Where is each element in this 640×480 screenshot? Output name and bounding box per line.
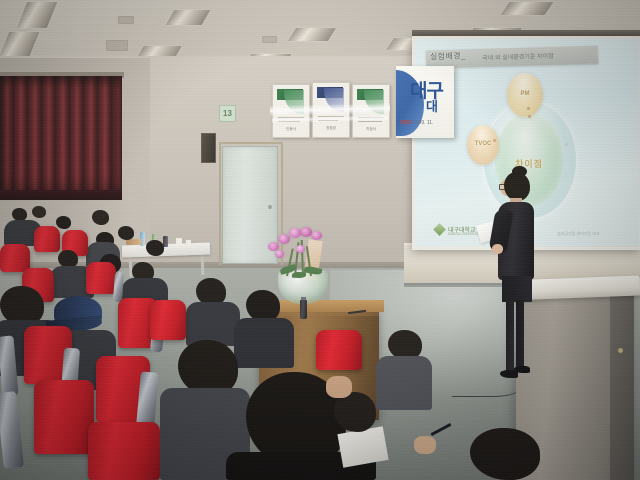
beverage-bottle (300, 300, 307, 319)
seat (88, 422, 160, 480)
podium-knob-icon[interactable] (618, 348, 623, 353)
presenter-leg (506, 300, 514, 372)
banner-mark: 2009 (400, 120, 411, 126)
audience-hand (414, 436, 436, 454)
paper-cup (186, 240, 191, 247)
podium-side-panel (610, 292, 634, 480)
audience-head (56, 216, 71, 229)
seat (150, 300, 186, 340)
audience-body (376, 356, 432, 410)
presenter-leg (516, 300, 524, 370)
orchid-bloom (296, 245, 305, 253)
diagram-accent-dot (493, 139, 496, 142)
orchid-bloom (275, 250, 284, 258)
slide-footer-note: 실내공기질 관리기준 비교 (557, 231, 600, 237)
presenter-shoe (500, 370, 518, 378)
orchid-bloom (311, 231, 322, 240)
stage-curtain (0, 76, 122, 198)
audience-head (146, 240, 164, 256)
presenter-hair-bun (512, 166, 527, 177)
presenter (494, 166, 556, 386)
banner-subtitle: 대 (426, 96, 438, 115)
seat (86, 262, 116, 294)
orchid-bloom (278, 234, 290, 244)
audience-body (186, 302, 240, 346)
wall-speaker (201, 133, 216, 163)
audience-head (334, 392, 376, 432)
audience-head (118, 226, 134, 240)
logo-diamond-icon (433, 223, 446, 236)
audience-head (32, 206, 46, 218)
seat (34, 226, 60, 252)
presenter-skirt (502, 276, 532, 302)
curtain-hem (0, 190, 122, 200)
paper-cup (176, 238, 182, 246)
audience-head (92, 210, 109, 225)
poster-caption: 인증서 (273, 127, 309, 132)
diagram-accent-dot (565, 143, 568, 146)
room-number-sign: 13 (219, 105, 236, 122)
lecture-hall-photo: PM TVOC 차이점 대구대학교 DAEGU UNIVERSITY 실내공기질… (0, 0, 640, 480)
slide-title: 실험배경_ (430, 50, 466, 62)
audience-body (234, 318, 294, 368)
poster-caption: 표창장 (313, 126, 349, 131)
banner-date: 2009. 11. (413, 120, 433, 126)
table-leg (201, 255, 205, 275)
diagram-accent-dot (527, 107, 530, 110)
audience-hand (326, 376, 352, 398)
diagram-accent-dot (528, 115, 531, 118)
poster-caption: 지정서 (353, 127, 389, 132)
seat (316, 330, 362, 370)
daegu-banner: 대구 대 2009 2009. 11. (396, 66, 454, 138)
door-handle-icon[interactable] (268, 205, 272, 209)
presenter-hand (492, 244, 503, 254)
seat (34, 380, 94, 454)
seat (0, 244, 30, 272)
diagram-label-pm: PM (507, 91, 543, 97)
slide-subtitle: 국내·외 실내환경기준 차이점 (482, 51, 554, 62)
orchid-leaf (292, 272, 306, 278)
